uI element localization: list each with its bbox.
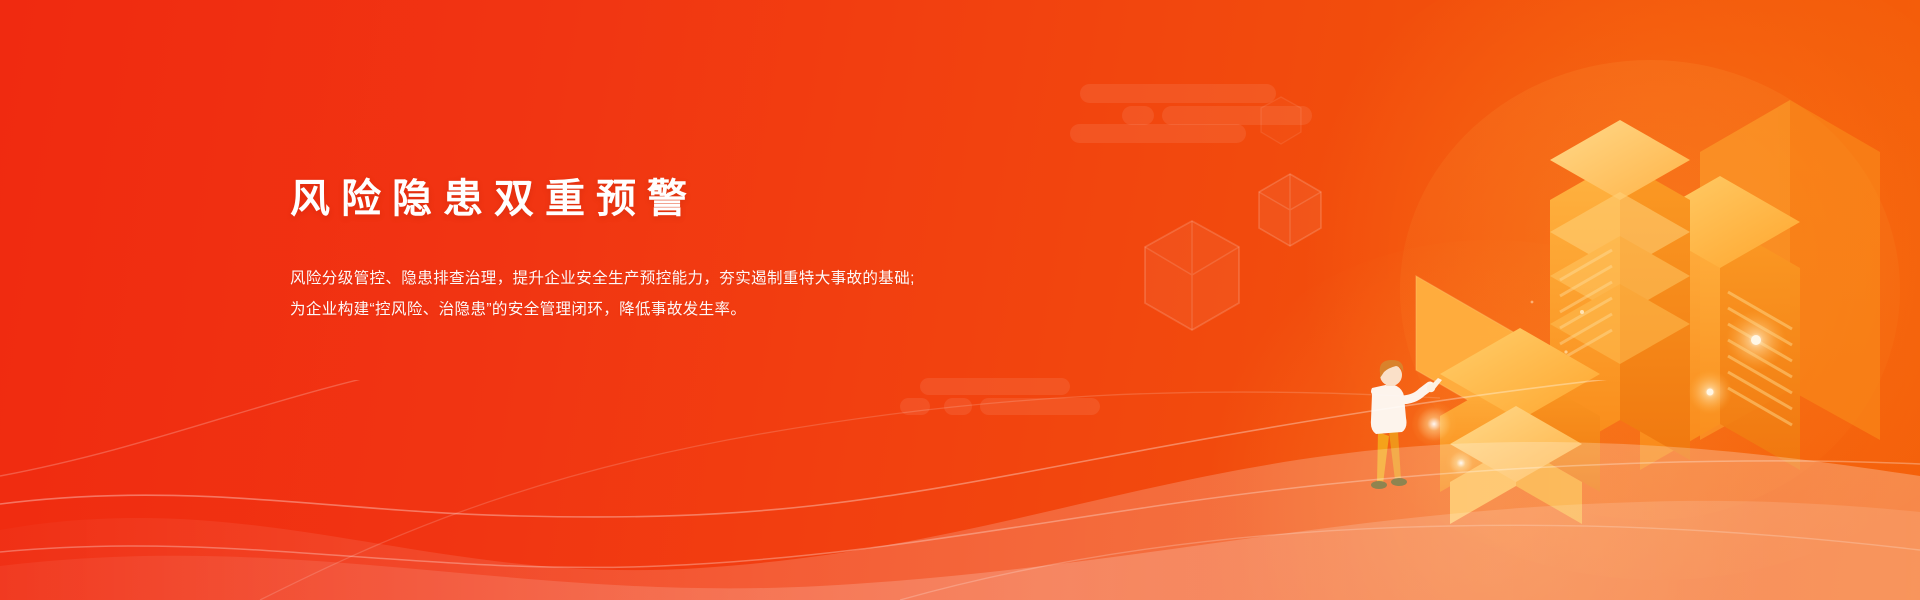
- wireframe-cube-tiny: [1258, 95, 1304, 152]
- cloud-bar: [900, 398, 930, 415]
- wireframe-cube-small: [1255, 172, 1325, 255]
- wave-line-2: [0, 380, 460, 476]
- wave-line-4: [260, 392, 1440, 600]
- wireframe-cube-large: [1140, 218, 1244, 339]
- isometric-server-illustration: [1320, 40, 1880, 560]
- banner-subtitle-line-1: 风险分级管控、隐患排查治理，提升企业安全生产预控能力，夯实遏制重特大事故的基础;: [290, 263, 1010, 294]
- cloud-bar: [920, 378, 1070, 395]
- cloud-bar: [1070, 124, 1246, 143]
- cloud-shape-bottom: [900, 378, 1120, 424]
- cloud-bar: [1162, 106, 1312, 125]
- banner-subtitle-line-2: 为企业构建“控风险、治隐患”的安全管理闭环，降低事故发生率。: [290, 294, 1010, 325]
- cloud-bar: [944, 398, 972, 415]
- promo-banner: 风险隐患双重预警 风险分级管控、隐患排查治理，提升企业安全生产预控能力，夯实遏制…: [0, 0, 1920, 600]
- banner-text-block: 风险隐患双重预警 风险分级管控、隐患排查治理，提升企业安全生产预控能力，夯实遏制…: [290, 175, 1010, 325]
- banner-title: 风险隐患双重预警: [290, 175, 1010, 223]
- cloud-bar: [1080, 84, 1276, 103]
- cloud-bar: [1122, 106, 1154, 125]
- banner-subtitle: 风险分级管控、隐患排查治理，提升企业安全生产预控能力，夯实遏制重特大事故的基础;…: [290, 263, 1010, 325]
- cloud-shape-top: [1062, 84, 1312, 142]
- cloud-bar: [980, 398, 1100, 415]
